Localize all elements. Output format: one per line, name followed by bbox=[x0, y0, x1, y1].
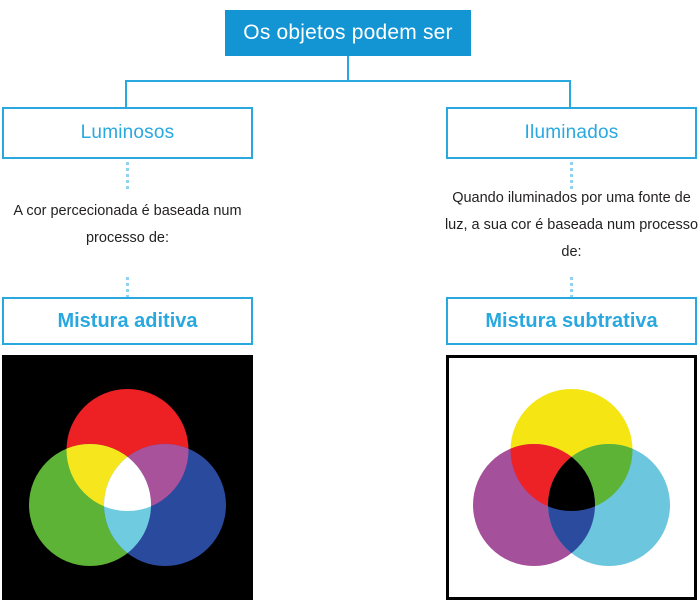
description-iluminados: Quando iluminados por uma fonte de luz, … bbox=[444, 185, 699, 266]
dotted-connector-left-lower bbox=[126, 277, 132, 298]
root-node-label: Os objetos podem ser bbox=[243, 21, 452, 45]
branch-box-luminosos: Luminosos bbox=[2, 107, 253, 159]
subtractive-color-mixing-figure bbox=[446, 355, 697, 600]
subtractive-color-mixing-svg bbox=[449, 358, 694, 597]
branch-label-iluminados: Iluminados bbox=[525, 122, 619, 144]
connector-drop-right bbox=[569, 80, 571, 108]
dotted-connector-right-lower bbox=[570, 277, 576, 298]
root-node-os-objetos-podem-ser: Os objetos podem ser bbox=[225, 10, 471, 56]
branch-box-iluminados: Iluminados bbox=[446, 107, 697, 159]
description-luminosos: A cor percecionada é baseada num process… bbox=[0, 198, 255, 252]
connector-root-stem bbox=[347, 56, 349, 81]
result-label-mistura-subtrativa: Mistura subtrativa bbox=[485, 310, 657, 333]
additive-color-mixing-figure bbox=[2, 355, 253, 600]
connector-horizontal-bar bbox=[125, 80, 571, 82]
connector-drop-left bbox=[125, 80, 127, 108]
additive-color-mixing-svg bbox=[2, 355, 253, 600]
result-label-mistura-aditiva: Mistura aditiva bbox=[57, 310, 197, 333]
dotted-connector-left-upper bbox=[126, 162, 132, 189]
branch-label-luminosos: Luminosos bbox=[81, 122, 175, 144]
result-box-mistura-subtrativa: Mistura subtrativa bbox=[446, 297, 697, 345]
result-box-mistura-aditiva: Mistura aditiva bbox=[2, 297, 253, 345]
